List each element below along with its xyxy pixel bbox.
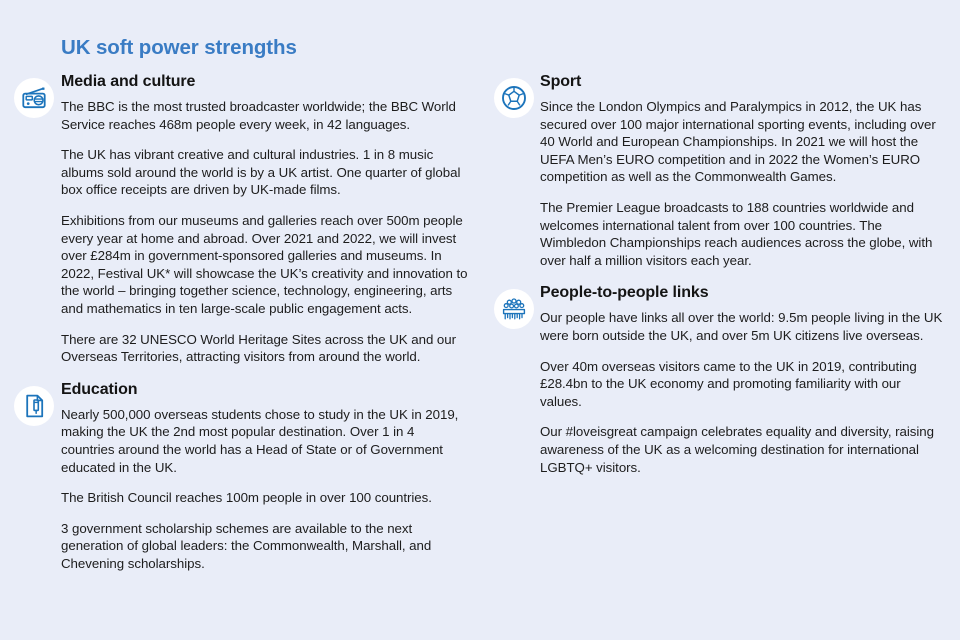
section-media-and-culture: Media and culture The BBC is the most tr… [0, 72, 480, 366]
paragraph: 3 government scholarship schemes are ava… [61, 520, 468, 573]
document-pen-icon [14, 386, 54, 426]
right-column: Sport Since the London Olympics and Para… [480, 72, 960, 486]
paragraph: The Premier League broadcasts to 188 cou… [540, 199, 946, 269]
radio-icon [14, 78, 54, 118]
paragraph: There are 32 UNESCO World Heritage Sites… [61, 331, 468, 366]
paragraph: Over 40m overseas visitors came to the U… [540, 358, 946, 411]
section-people-to-people-links: People-to-people links Our people have l… [480, 283, 960, 476]
section-heading-people-to-people-links: People-to-people links [540, 283, 946, 303]
page-title: UK soft power strengths [61, 36, 297, 60]
section-heading-media-and-culture: Media and culture [61, 72, 468, 92]
paragraph: Nearly 500,000 overseas students chose t… [61, 406, 468, 476]
paragraph: The BBC is the most trusted broadcaster … [61, 98, 468, 133]
paragraph: Our #loveisgreat campaign celebrates equ… [540, 423, 946, 476]
section-heading-sport: Sport [540, 72, 946, 92]
section-heading-education: Education [61, 380, 468, 400]
people-group-icon [494, 289, 534, 329]
football-icon [494, 78, 534, 118]
paragraph: Exhibitions from our museums and galleri… [61, 212, 468, 318]
section-education: Education Nearly 500,000 overseas studen… [0, 380, 480, 573]
paragraph: The UK has vibrant creative and cultural… [61, 146, 468, 199]
page-root: UK soft power strengths Media and cultur… [0, 0, 960, 640]
paragraph: Our people have links all over the world… [540, 309, 946, 344]
paragraph: Since the London Olympics and Paralympic… [540, 98, 946, 186]
paragraph: The British Council reaches 100m people … [61, 489, 468, 507]
section-sport: Sport Since the London Olympics and Para… [480, 72, 960, 269]
left-column: Media and culture The BBC is the most tr… [0, 72, 480, 582]
